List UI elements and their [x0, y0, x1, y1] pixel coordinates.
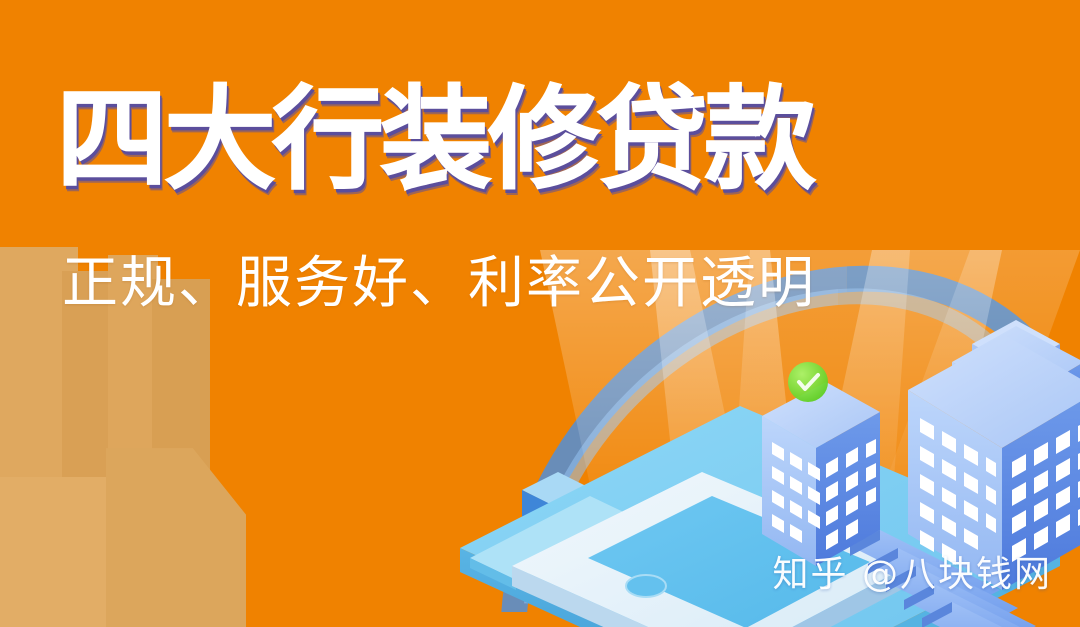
silhouette-building: [62, 271, 114, 627]
verified-badge: [788, 362, 828, 402]
small-building: [762, 382, 880, 566]
silhouette-building: [0, 477, 110, 627]
headline: 四大行装修贷款: [56, 78, 812, 203]
subheadline: 正规、服务好、利率公开透明: [62, 253, 816, 315]
promo-banner: 四大行装修贷款 正规、服务好、利率公开透明 知乎 @八块钱网: [0, 0, 1080, 627]
silhouette-building: [152, 279, 210, 627]
watermark: 知乎 @八块钱网: [773, 545, 1052, 597]
silhouette-tower: [106, 419, 246, 627]
